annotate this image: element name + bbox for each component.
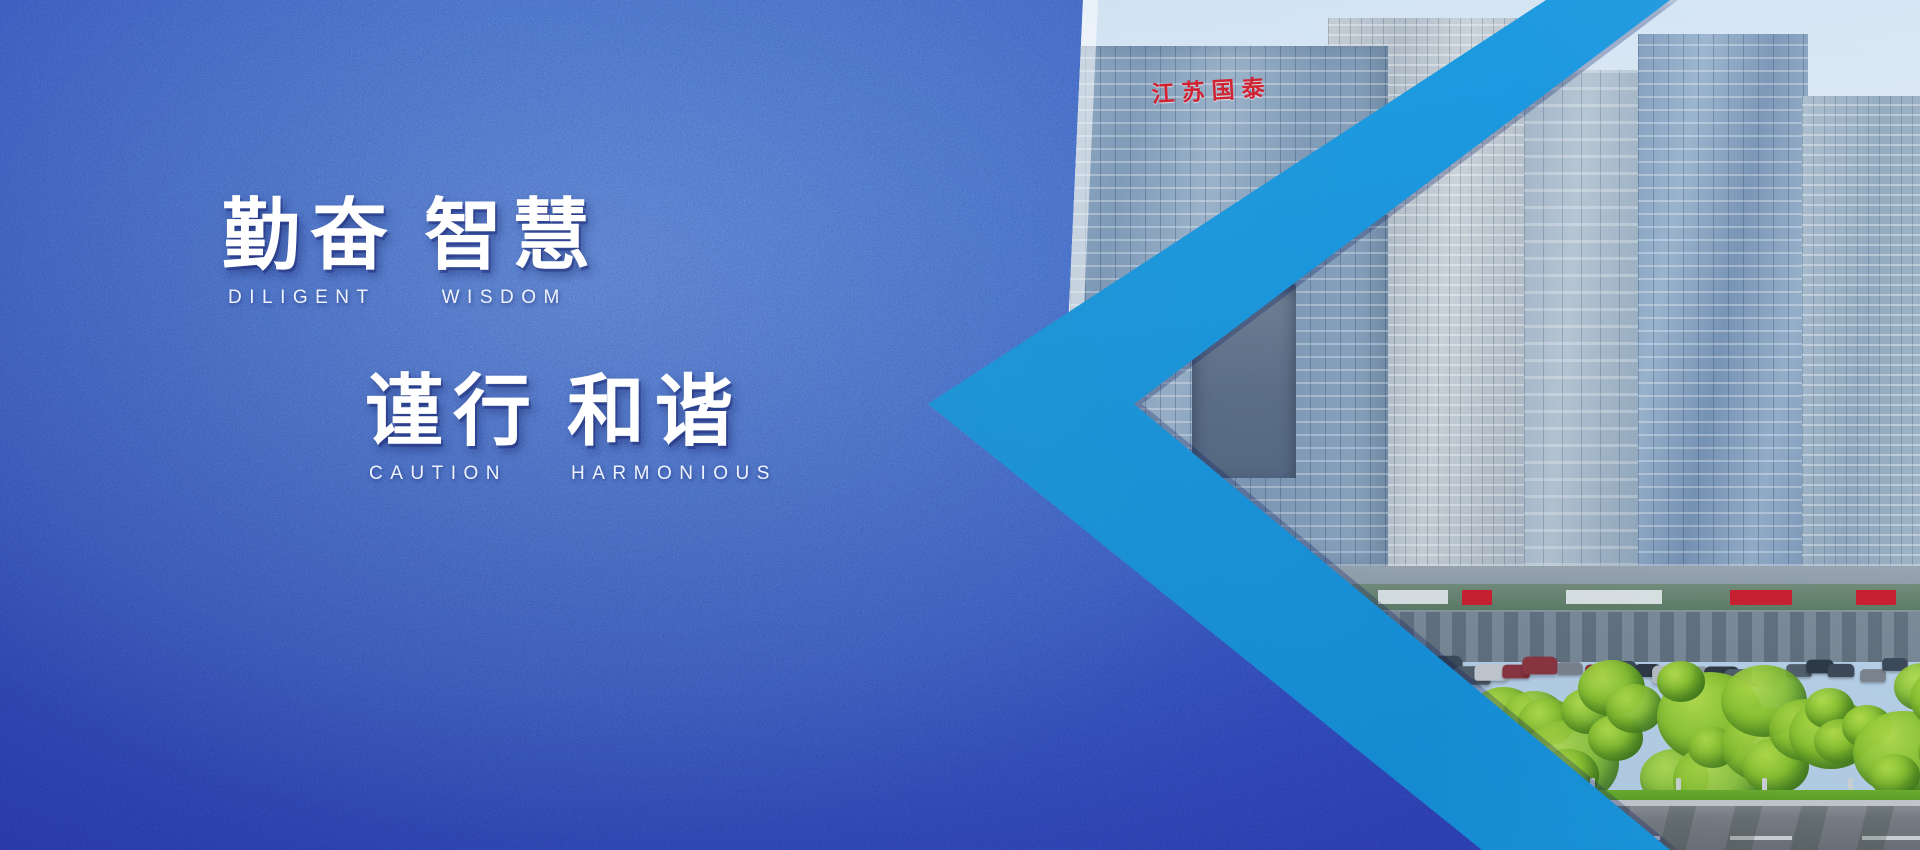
slogan-line-1-cn: 勤奋智慧 — [222, 196, 600, 277]
slogan-line-1-en: DILIGENTWISDOM — [222, 287, 600, 309]
photo-car — [1078, 666, 1110, 682]
photo-tree — [1232, 728, 1297, 783]
photo-tree — [1209, 744, 1307, 826]
photo-tree-trunk — [1246, 778, 1251, 822]
photo-tree — [1010, 658, 1036, 697]
slogan-line-2: 谨行和谐 CAUTIONHARMONIOUS — [365, 372, 777, 485]
photo-tree — [1108, 701, 1200, 779]
photo-tree — [1267, 746, 1370, 833]
slogan-line-2-cn-b: 和谐 — [567, 367, 743, 457]
slogan-line-2-en-b: HARMONIOUS — [571, 463, 777, 485]
photo-tree — [1195, 716, 1298, 803]
photo-car — [1152, 654, 1186, 671]
banner-artwork: 江 苏 国 泰 — [910, 0, 1920, 850]
photo-car — [1052, 655, 1078, 668]
photo-tree — [1252, 740, 1333, 808]
photo-car — [1098, 653, 1134, 671]
slogan-line-1-en-b: WISDOM — [442, 287, 567, 309]
banner-copy: 勤奋智慧 DILIGENTWISDOM 谨行和谐 CAUTIONHARMONIO… — [0, 0, 1000, 850]
photo-tree — [1025, 671, 1131, 760]
slogan-line-1: 勤奋智慧 DILIGENTWISDOM — [222, 196, 600, 309]
slogan-line-1-cn-b: 智慧 — [424, 191, 600, 281]
photo-tree — [1069, 668, 1136, 724]
photo-tree — [1146, 726, 1195, 767]
photo-tree — [1053, 730, 1141, 804]
photo-car — [1205, 657, 1239, 674]
photo-car — [1134, 669, 1163, 684]
photo-lamp-banner — [1306, 738, 1319, 794]
photo-tree — [1162, 670, 1247, 741]
photo-tree — [1033, 696, 1112, 762]
slogan-line-2-cn-a: 谨行 — [365, 367, 541, 457]
photo-car — [1179, 661, 1213, 678]
slogan-line-2-en: CAUTIONHARMONIOUS — [365, 463, 777, 485]
photo-tree-trunk — [1332, 778, 1337, 822]
banner-stage: 江 苏 国 泰 — [0, 0, 1920, 850]
photo-tree — [1286, 749, 1359, 810]
photo-tree-trunk — [1160, 778, 1165, 822]
slogan-line-2-en-a: CAUTION — [369, 463, 507, 485]
photo-tree — [1095, 694, 1171, 758]
photo-lane-marking — [1202, 836, 1264, 840]
slogan-line-1-cn-a: 勤奋 — [222, 191, 398, 281]
photo-lane-marking — [1334, 836, 1396, 840]
slogan-line-2-cn: 谨行和谐 — [365, 372, 777, 453]
photo-tree — [1129, 729, 1182, 773]
photo-lane-marking — [1070, 836, 1132, 840]
photo-tree — [1144, 711, 1230, 783]
slogan-line-1-en-a: DILIGENT — [228, 287, 376, 309]
